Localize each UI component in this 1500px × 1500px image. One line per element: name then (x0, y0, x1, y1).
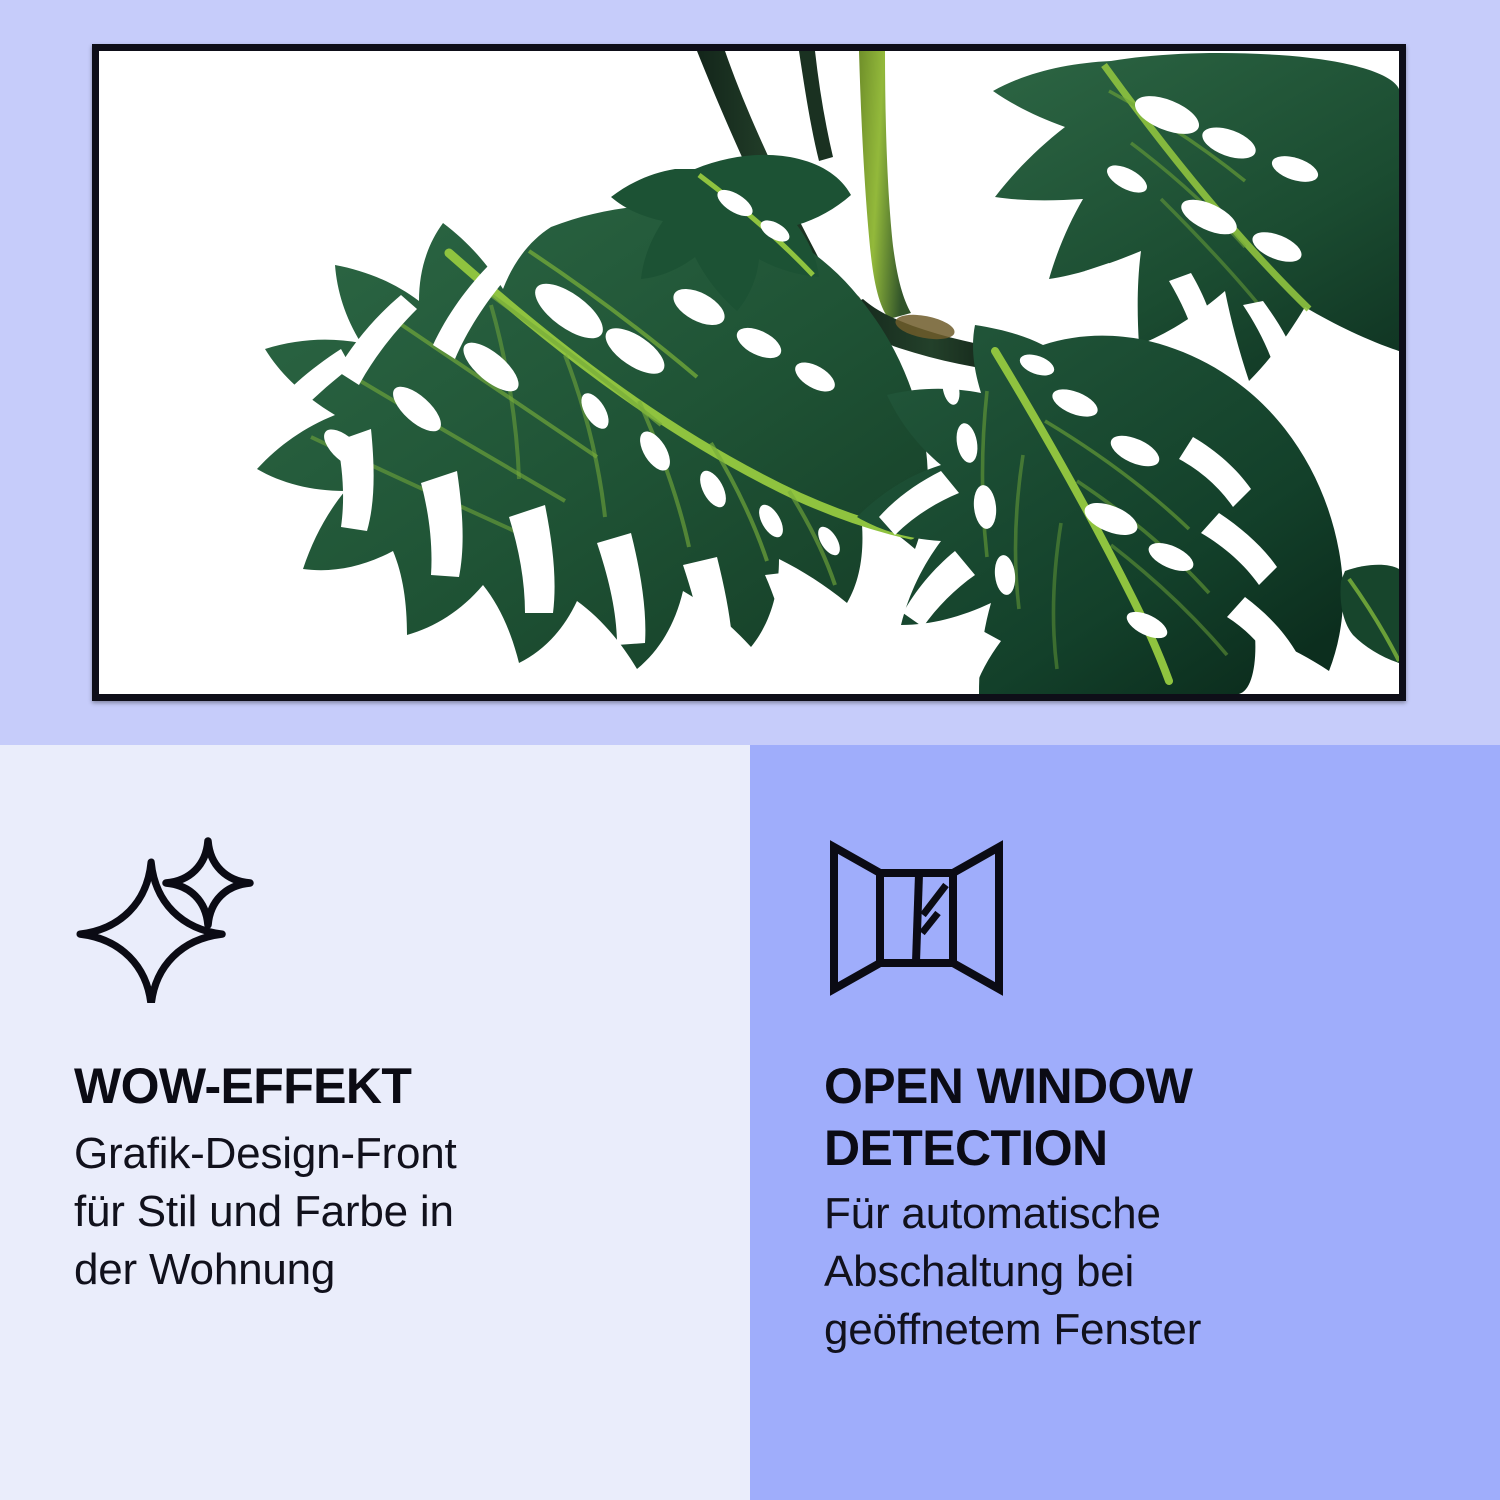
open-window-icon (824, 833, 1426, 1003)
hero-banner (0, 0, 1500, 745)
feature-title: OPEN WINDOW DETECTION (824, 1055, 1426, 1179)
framed-artwork (92, 44, 1406, 701)
feature-body: Grafik-Design-Front für Stil und Farbe i… (74, 1125, 676, 1299)
feature-body: Für automatische Abschaltung bei geöffne… (824, 1185, 1426, 1359)
infographic-page: WOW-EFFEKT Grafik-Design-Front für Stil … (0, 0, 1500, 1500)
sparkle-icon (74, 833, 676, 1003)
feature-panels: WOW-EFFEKT Grafik-Design-Front für Stil … (0, 745, 1500, 1500)
feature-panel-wow-effekt: WOW-EFFEKT Grafik-Design-Front für Stil … (0, 745, 750, 1500)
monstera-artwork (99, 51, 1399, 694)
feature-panel-open-window-detection: OPEN WINDOW DETECTION Für automatische A… (750, 745, 1500, 1500)
feature-title: WOW-EFFEKT (74, 1055, 676, 1117)
